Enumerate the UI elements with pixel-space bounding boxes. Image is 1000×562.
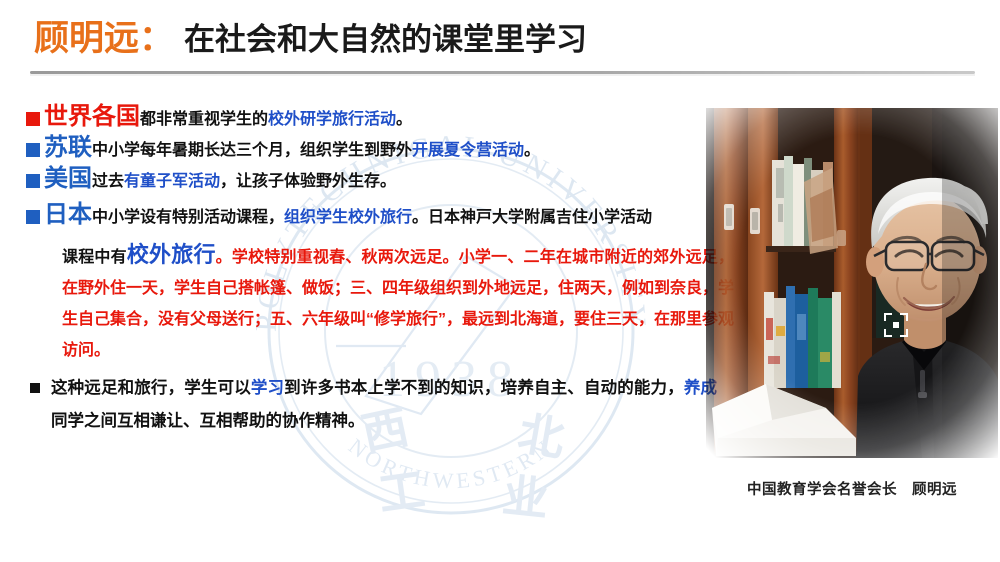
japan-detail-emphasis: 校外旅行 — [127, 242, 216, 267]
bullet-lead-usa: 美国 — [44, 165, 92, 192]
bullet-part: 过去 — [92, 173, 124, 190]
svg-text:工: 工 — [375, 463, 428, 521]
camera-focus-bracket-icon — [884, 313, 908, 337]
bullet-item-conclusion: 这种远足和旅行，学生可以学习到许多书本上学不到的知识，培养自主、自动的能力，养成… — [26, 372, 726, 438]
svg-text:NORTHWESTERN: NORTHWESTERN — [344, 433, 558, 493]
bullet-part: 中小学设有特别活动课程， — [92, 209, 284, 226]
bullet-part-highlight: 校外研学旅行活动 — [268, 111, 396, 128]
conclusion-part: 这种远足和旅行，学生可以 — [51, 379, 251, 397]
bullet-lead-japan: 日本 — [44, 201, 92, 228]
bullet-item-japan: 日本中小学设有特别活动课程，组织学生校外旅行。日本神戸大学附属吉住小学活动 — [26, 201, 726, 231]
bullet-square-black-icon — [30, 383, 40, 393]
bullet-part-highlight: 开展夏令营活动 — [412, 142, 524, 159]
conclusion-part: 同学之间互相谦让、互相帮助的协作精神。 — [51, 412, 365, 430]
bullet-square-blue-icon — [26, 210, 40, 224]
bullet-part: 中小学每年暑期长达三个月，组织学生到野外 — [92, 142, 412, 159]
bullet-part: 都非常重视学生的 — [140, 111, 268, 128]
japan-detail-punct: 。 — [216, 249, 232, 266]
title-speaker-name: 顾明远： — [34, 18, 174, 60]
bullet-item-world: 世界各国都非常重视学生的校外研学旅行活动。 — [26, 103, 726, 133]
bullet-text: 世界各国都非常重视学生的校外研学旅行活动。 — [44, 103, 412, 133]
conclusion-part: 到许多书本上学不到的知识，培养自主、自动的能力， — [284, 379, 684, 397]
bullet-text: 苏联中小学每年暑期长达三个月，组织学生到野外开展夏令营活动。 — [44, 134, 540, 164]
conclusion-text: 这种远足和旅行，学生可以学习到许多书本上学不到的知识，培养自主、自动的能力，养成… — [51, 372, 717, 438]
title-divider-shadow — [30, 74, 975, 76]
bullet-part-highlight: 有童子军活动 — [124, 173, 220, 190]
bullet-item-usa: 美国过去有童子军活动，让孩子体验野外生存。 — [26, 165, 726, 195]
bullet-part: ，让孩子体验野外生存。 — [220, 173, 396, 190]
svg-text:业: 业 — [500, 469, 551, 526]
bullet-part: 。 — [524, 142, 540, 159]
portrait-photo-mask — [706, 108, 998, 458]
portrait-photo — [706, 108, 998, 458]
bullet-part-highlight: 组织学生校外旅行 — [284, 209, 412, 226]
bullet-lead-world: 世界各国 — [44, 103, 140, 130]
japan-detail-prefix: 课程中有 — [62, 249, 127, 266]
photo-caption: 中国教育学会名誉会长 顾明远 — [706, 478, 998, 499]
bullet-part: 。日本神戸大学附属吉住小学活动 — [412, 209, 652, 226]
title-topic: 在社会和大自然的课堂里学习 — [184, 19, 587, 61]
slide-canvas: POLYTECHNICAL UNIVERSITY NORTHWESTERN 19… — [0, 0, 1000, 562]
bullet-lead-soviet: 苏联 — [44, 134, 92, 161]
bullet-square-blue-icon — [26, 143, 40, 157]
conclusion-part-highlight: 学习 — [251, 379, 284, 397]
bullet-text: 美国过去有童子军活动，让孩子体验野外生存。 — [44, 165, 396, 195]
focus-center-dot-icon — [893, 322, 899, 328]
bullet-square-red-icon — [26, 112, 40, 126]
slide-title: 顾明远： 在社会和大自然的课堂里学习 — [34, 18, 587, 61]
content-body: 世界各国都非常重视学生的校外研学旅行活动。 苏联中小学每年暑期长达三个月，组织学… — [26, 103, 726, 438]
seal-inner-text: NORTHWESTERN — [344, 433, 558, 493]
bullet-part: 。 — [396, 111, 412, 128]
bullet-square-blue-icon — [26, 174, 40, 188]
bullet-item-soviet: 苏联中小学每年暑期长达三个月，组织学生到野外开展夏令营活动。 — [26, 134, 726, 164]
japan-detail-paragraph: 课程中有校外旅行。学校特别重视春、秋两次远足。小学一、二年在城市附近的郊外远足，… — [62, 239, 734, 366]
bullet-text: 日本中小学设有特别活动课程，组织学生校外旅行。日本神戸大学附属吉住小学活动 — [44, 201, 652, 231]
